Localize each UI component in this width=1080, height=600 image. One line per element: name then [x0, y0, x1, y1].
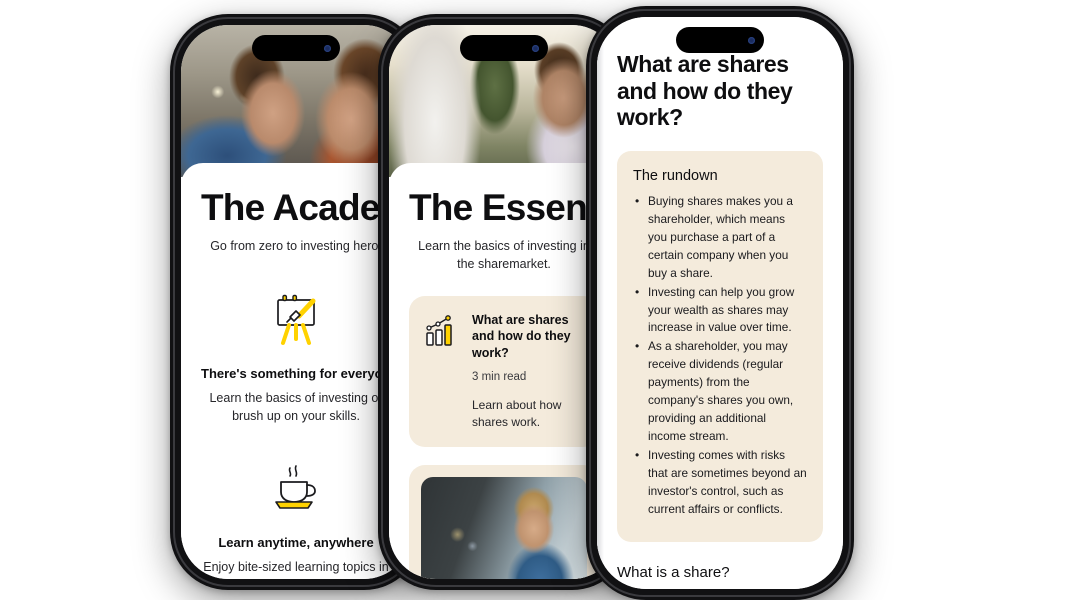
front-camera-icon — [532, 45, 539, 52]
article-view-shares: What are shares and how do they work? Th… — [597, 17, 843, 589]
phone-right: What are shares and how do they work? Th… — [586, 6, 854, 600]
page-subtitle-essentials: Learn the basics of investing in the sha… — [409, 238, 599, 274]
article-card-title: What are shares and how do they work? — [472, 312, 584, 362]
dynamic-island-left — [252, 35, 340, 61]
article-heading: What are shares and how do they work? — [617, 51, 823, 131]
rundown-list-item: Investing can help you grow your wealth … — [648, 284, 807, 338]
phone-middle-screen: The Essentials Learn the basics of inves… — [389, 25, 619, 579]
article-card-description: Learn about how shares work. — [472, 397, 584, 431]
feature-description: Learn the basics of investing or brush u… — [201, 389, 391, 425]
article-card-read-time: 3 min read — [472, 371, 584, 383]
feature-title: There's something for everyone — [201, 366, 391, 381]
coffee-cup-icon — [201, 459, 391, 521]
article-section-heading: What is a share? — [617, 564, 823, 581]
dynamic-island-right — [676, 27, 764, 53]
rundown-list-item: Buying shares makes you a shareholder, w… — [648, 193, 807, 283]
rundown-list: Buying shares makes you a shareholder, w… — [633, 193, 807, 519]
front-camera-icon — [324, 45, 331, 52]
rundown-heading: The rundown — [633, 168, 807, 184]
page-title-academy: The Academy — [201, 189, 391, 227]
feature-block-learn-anytime: Learn anytime, anywhere Enjoy bite-sized… — [201, 459, 391, 579]
essentials-content-sheet: The Essentials Learn the basics of inves… — [389, 163, 619, 579]
feature-title: Learn anytime, anywhere — [201, 535, 391, 550]
easel-paintbrush-icon — [201, 290, 391, 352]
feature-block-something-for-everyone: There's something for everyone Learn the… — [201, 290, 391, 425]
rundown-list-item: Investing comes with risks that are some… — [648, 447, 807, 519]
feature-description: Enjoy bite-sized learning topics in the … — [201, 558, 391, 579]
photo-woman-with-phone — [421, 477, 587, 579]
bar-chart-icon — [424, 312, 458, 353]
article-card-photo[interactable] — [409, 465, 599, 579]
phone-left-screen: The Academy Go from zero to investing he… — [181, 25, 411, 579]
dynamic-island-middle — [460, 35, 548, 61]
article-card-shares[interactable]: What are shares and how do they work? 3 … — [409, 296, 599, 447]
page-subtitle-academy: Go from zero to investing hero. — [201, 238, 391, 256]
rundown-panel: The rundown Buying shares makes you a sh… — [617, 151, 823, 542]
rundown-list-item: As a shareholder, you may receive divide… — [648, 338, 807, 446]
front-camera-icon — [748, 37, 755, 44]
page-title-essentials: The Essentials — [409, 189, 599, 227]
phone-right-screen: What are shares and how do they work? Th… — [597, 17, 843, 589]
article-card-body: What are shares and how do they work? 3 … — [472, 312, 584, 431]
academy-content-sheet: The Academy Go from zero to investing he… — [181, 163, 411, 579]
phone-mockup-stage: The Academy Go from zero to investing he… — [0, 0, 1080, 600]
